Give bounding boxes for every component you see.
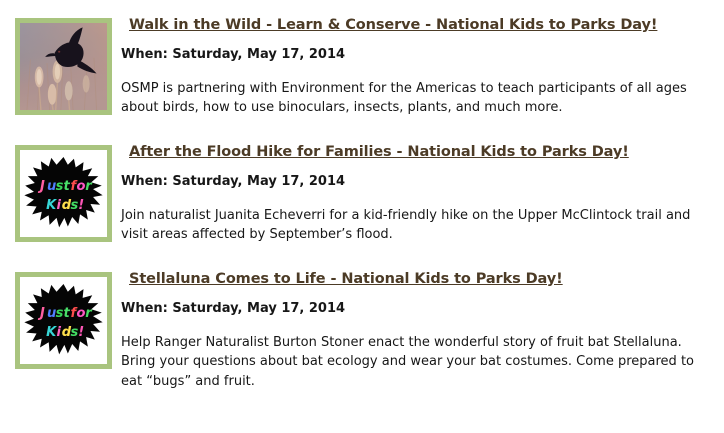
event-when: When: Saturday, May 17, 2014 (23, 47, 712, 63)
svg-text:K: K (46, 198, 57, 213)
events-list: Walk in the Wild - Learn & Conserve - Na… (0, 0, 724, 392)
event-body: After the Flood Hike for Families - Nati… (15, 141, 712, 245)
event-description: Help Ranger Naturalist Burton Stoner ena… (23, 333, 712, 392)
svg-text:o: o (77, 306, 86, 321)
event-item: J u s t f o r K i d s ! S (15, 268, 712, 392)
event-thumbnail[interactable]: J u s t f o r K i d s ! (15, 272, 112, 369)
svg-text:!: ! (78, 325, 84, 340)
blackbird-on-cattails-photo (20, 23, 107, 110)
svg-text:i: i (57, 198, 62, 213)
svg-text:s: s (56, 306, 64, 321)
event-title-link[interactable]: Stellaluna Comes to Life - National Kids… (129, 271, 563, 288)
event-thumbnail[interactable]: J u s t f o r K i d s ! (15, 145, 112, 242)
event-title-link[interactable]: After the Flood Hike for Families - Nati… (129, 144, 629, 161)
event-when: When: Saturday, May 17, 2014 (23, 301, 712, 317)
event-body: Walk in the Wild - Learn & Conserve - Na… (15, 14, 712, 118)
just-for-kids-splat-icon: J u s t f o r K i d s ! (20, 277, 107, 364)
event-when: When: Saturday, May 17, 2014 (23, 174, 712, 190)
event-item: J u s t f o r K i d s ! A (15, 141, 712, 246)
svg-text:s: s (70, 325, 78, 340)
event-description: OSMP is partnering with Environment for … (23, 79, 712, 119)
svg-text:t: t (64, 179, 71, 194)
just-for-kids-splat-icon: J u s t f o r K i d s ! (20, 150, 107, 237)
svg-text:!: ! (78, 198, 84, 213)
svg-text:i: i (57, 325, 62, 340)
event-thumbnail[interactable] (15, 18, 112, 115)
svg-text:s: s (56, 179, 64, 194)
svg-text:s: s (70, 198, 78, 213)
event-title-link[interactable]: Walk in the Wild - Learn & Conserve - Na… (129, 17, 657, 34)
event-description: Join naturalist Juanita Echeverri for a … (23, 206, 712, 246)
svg-text:K: K (46, 325, 57, 340)
event-body: Stellaluna Comes to Life - National Kids… (15, 268, 712, 392)
svg-text:t: t (64, 306, 71, 321)
event-item: Walk in the Wild - Learn & Conserve - Na… (15, 14, 712, 119)
svg-text:o: o (77, 179, 86, 194)
